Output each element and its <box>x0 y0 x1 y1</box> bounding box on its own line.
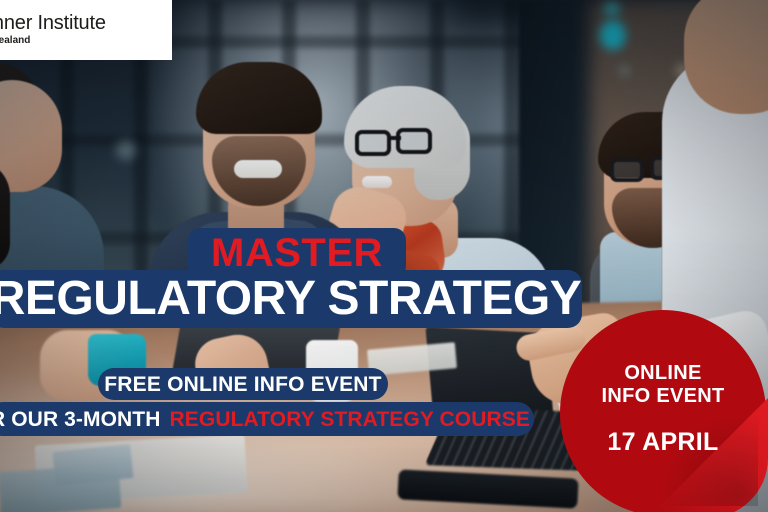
subhead-course-highlight: REGULATORY STRATEGY COURSE <box>170 409 530 430</box>
promo-banner: ohner Institute w Zealand MASTER REGULAT… <box>0 0 768 512</box>
subhead-event-label: FREE ONLINE INFO EVENT <box>104 374 381 395</box>
brand-logo: ohner Institute w Zealand <box>0 0 172 60</box>
sticker-content: ONLINE INFO EVENT 17 APRIL <box>560 310 766 512</box>
sticker-line1: ONLINE <box>624 362 701 385</box>
subhead-badge-course: R OUR 3-MONTH REGULATORY STRATEGY COURSE <box>0 402 534 436</box>
headline-line1: MASTER <box>211 233 383 273</box>
event-sticker-badge: ONLINE INFO EVENT 17 APRIL <box>560 310 766 512</box>
headline-line2: REGULATORY STRATEGY <box>0 275 581 323</box>
brand-logo-name: ohner Institute <box>0 13 172 34</box>
subhead-course-line: R OUR 3-MONTH REGULATORY STRATEGY COURSE <box>0 409 530 430</box>
sticker-line2: INFO EVENT <box>601 385 724 408</box>
headline-badge-regulatory-strategy: REGULATORY STRATEGY <box>0 270 582 328</box>
subhead-course-prefix: R OUR 3-MONTH <box>0 409 161 430</box>
subhead-badge-free-event: FREE ONLINE INFO EVENT <box>98 368 388 400</box>
brand-logo-subtitle: w Zealand <box>0 35 172 47</box>
sticker-date: 17 APRIL <box>607 428 718 457</box>
